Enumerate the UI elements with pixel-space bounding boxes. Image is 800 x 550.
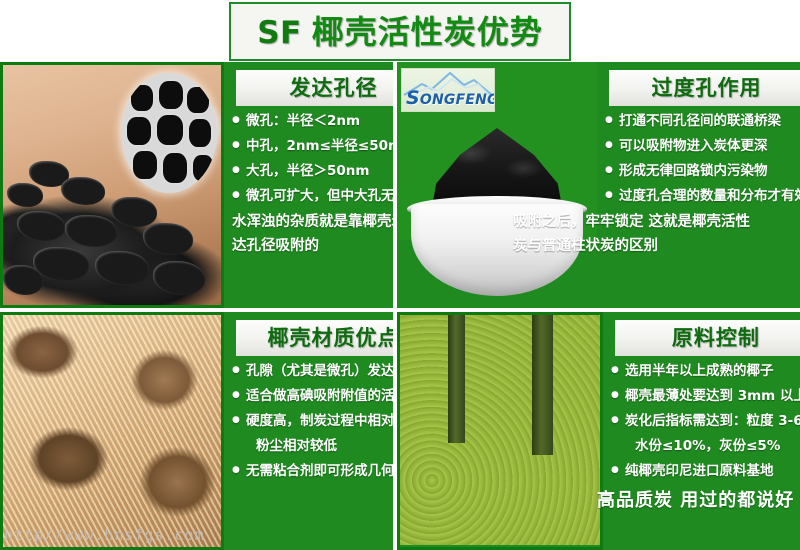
list-item: 无需粘合剂即可形成几何外观 [232,462,393,480]
bullet-list-developed-pore-size: 微孔：半径＜2nm 中孔，2nm≤半径≤50nm 大孔，半径＞50nm 微孔可扩… [232,112,393,205]
logo-initial: S [406,87,420,109]
tail-line: 吸附之后，牢牢锁定 这就是椰壳活性 [513,212,800,234]
bottom-right-text-column: 原料控制 选用半年以上成熟的椰子 椰壳最薄处要达到 3mm 以上 炭化后指标需达… [603,312,800,550]
list-item: 硬度高，制炭过程中相对产生的 [232,412,393,430]
green-coconuts-plantation-photo [397,312,603,550]
title-box: SF 椰壳活性炭优势 [229,2,571,61]
section-heading-transitional-pore-function: 过度孔作用 [609,70,800,106]
list-item: 适合做高碘吸附附值的活性炭 [232,387,393,405]
list-item: 可以吸附物进入炭体更深 [605,137,800,155]
page-title: 椰壳活性炭优势 [312,7,543,53]
green-coconuts-image [400,315,600,545]
top-left-text-column: 发达孔径 微孔：半径＜2nm 中孔，2nm≤半径≤50nm 大孔，半径＞50nm… [224,62,393,308]
section-heading-raw-material-control: 原料控制 [615,320,800,356]
tail-line: 炭与普通柱状炭的区别 [513,236,800,258]
list-item-continuation: 粉尘相对较低 [232,437,393,455]
palm-trunk [448,315,465,443]
poster-title-bar: SF 椰壳活性炭优势 [0,0,800,62]
coconut-shell-husk-photo [0,312,224,550]
list-item: 孔隙（尤其是微孔）发达 [232,362,393,380]
list-item: 打通不同孔径间的联通桥梁 [605,112,800,130]
panel-raw-material-control: 原料控制 选用半年以上成熟的椰子 椰壳最薄处要达到 3mm 以上 炭化后指标需达… [397,312,800,550]
section-heading-developed-pore-size: 发达孔径 [236,70,393,106]
list-item: 中孔，2nm≤半径≤50nm [232,137,393,155]
songfeng-logo: SONGFENG [401,68,495,112]
panel-developed-pore-size: 发达孔径 微孔：半径＜2nm 中孔，2nm≤半径≤50nm 大孔，半径＞50nm… [0,62,393,308]
tail-line: 达孔径吸附的 [232,236,393,258]
bullet-list-coconut-shell-material-merits: 孔隙（尤其是微孔）发达 适合做高碘吸附附值的活性炭 硬度高，制炭过程中相对产生的… [232,362,393,480]
website-watermark: http//www.hnsfgs.com [4,526,205,544]
brand-initials: SF [257,15,302,51]
carbon-bowl-photo: SONGFENG [397,62,597,308]
bullet-list-raw-material-control: 选用半年以上成熟的椰子 椰壳最薄处要达到 3mm 以上 炭化后指标需达到：粒度 … [611,362,800,480]
list-item: 大孔，半径＞50nm [232,162,393,180]
list-item: 形成无律回路锁内污染物 [605,162,800,180]
pore-magnification-inset [121,73,217,193]
list-item: 微孔：半径＜2nm [232,112,393,130]
infographic-poster: SF 椰壳活性炭优势 [0,0,800,550]
tail-line: 水浑浊的杂质就是靠椰壳炭的发 [232,212,393,234]
list-item: 椰壳最薄处要达到 3mm 以上 [611,387,800,405]
list-item: 炭化后指标需达到：粒度 3-6 目 [611,412,800,430]
charcoal-granules-image [3,65,221,305]
list-item: 选用半年以上成熟的椰子 [611,362,800,380]
list-item: 过度孔合理的数量和分布才有效 [605,187,800,205]
bottom-left-text-column: 椰壳材质优点 孔隙（尤其是微孔）发达 适合做高碘吸附附值的活性炭 硬度高，制炭过… [224,312,393,550]
bullet-list-transitional-pore-function: 打通不同孔径间的联通桥梁 可以吸附物进入炭体更深 形成无律回路锁内污染物 过度孔… [605,112,800,205]
logo-rest: ONGFENG [420,92,495,108]
logo-wordmark: SONGFENG [406,87,495,109]
activated-carbon-granules-photo [0,62,224,308]
tail-line: 高品质炭 用过的都说好 [597,487,800,514]
panel-grid: 发达孔径 微孔：半径＜2nm 中孔，2nm≤半径≤50nm 大孔，半径＞50nm… [0,62,800,550]
panel-transitional-pore-function: SONGFENG 过度孔作用 打通不同孔径间的联通桥梁 可以吸附物进入炭体更深 … [397,62,800,308]
list-item: 纯椰壳印尼进口原料基地 [611,462,800,480]
panel-coconut-shell-material-merits: 椰壳材质优点 孔隙（尤其是微孔）发达 适合做高碘吸附附值的活性炭 硬度高，制炭过… [0,312,393,550]
section-heading-coconut-shell-material-merits: 椰壳材质优点 [236,320,393,356]
palm-trunk [532,315,553,455]
top-right-text-column: 过度孔作用 打通不同孔径间的联通桥梁 可以吸附物进入炭体更深 形成无律回路锁内污… [597,62,800,308]
list-item: 微孔可扩大，但中大孔无法缩小 [232,187,393,205]
list-item-continuation: 水份≤10%，灰份≤5% [611,437,800,455]
coconut-husk-image [3,315,221,547]
